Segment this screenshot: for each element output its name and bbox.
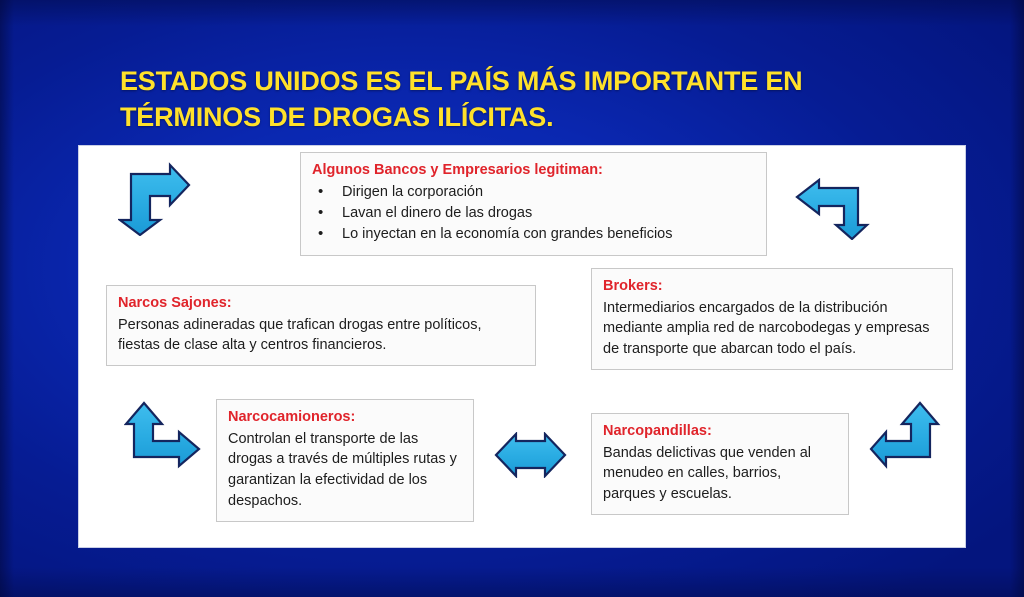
double-arrow-horizontal-icon: [494, 432, 567, 478]
card-brokers-title: Brokers:: [603, 276, 941, 297]
page-title: ESTADOS UNIDOS ES EL PAÍS MÁS IMPORTANTE…: [120, 64, 940, 135]
card-narcos-sajones-body: Personas adineradas que trafican drogas …: [118, 315, 524, 357]
elbow-arrow-up-right-icon: [124, 400, 202, 472]
card-narcocamioneros: Narcocamioneros: Controlan el transporte…: [216, 399, 474, 522]
card-banks: Algunos Bancos y Empresarios legitiman: …: [300, 152, 767, 256]
card-narcos-sajones-title: Narcos Sajones:: [118, 293, 524, 314]
card-narcopandillas: Narcopandillas: Bandas delictivas que ve…: [591, 413, 849, 515]
card-brokers-body: Intermediarios encargados de la distribu…: [603, 298, 941, 361]
card-narcocamioneros-title: Narcocamioneros:: [228, 407, 462, 428]
card-narcopandillas-title: Narcopandillas:: [603, 421, 837, 442]
card-brokers: Brokers: Intermediarios encargados de la…: [591, 268, 953, 370]
card-banks-bullets: Dirigen la corporación Lavan el dinero d…: [312, 182, 755, 246]
list-item: Lavan el dinero de las drogas: [312, 203, 755, 224]
card-narcocamioneros-body: Controlan el transporte de las drogas a …: [228, 429, 462, 513]
elbow-arrow-right-down-icon: [118, 158, 192, 236]
list-item: Lo inyectan en la economía con grandes b…: [312, 224, 755, 245]
card-narcos-sajones: Narcos Sajones: Personas adineradas que …: [106, 285, 536, 366]
list-item: Dirigen la corporación: [312, 182, 755, 203]
elbow-arrow-up-left-icon: [869, 400, 941, 472]
card-narcopandillas-body: Bandas delictivas que venden al menudeo …: [603, 443, 837, 506]
card-banks-title: Algunos Bancos y Empresarios legitiman:: [312, 160, 755, 181]
elbow-arrow-left-down-icon: [795, 178, 874, 240]
